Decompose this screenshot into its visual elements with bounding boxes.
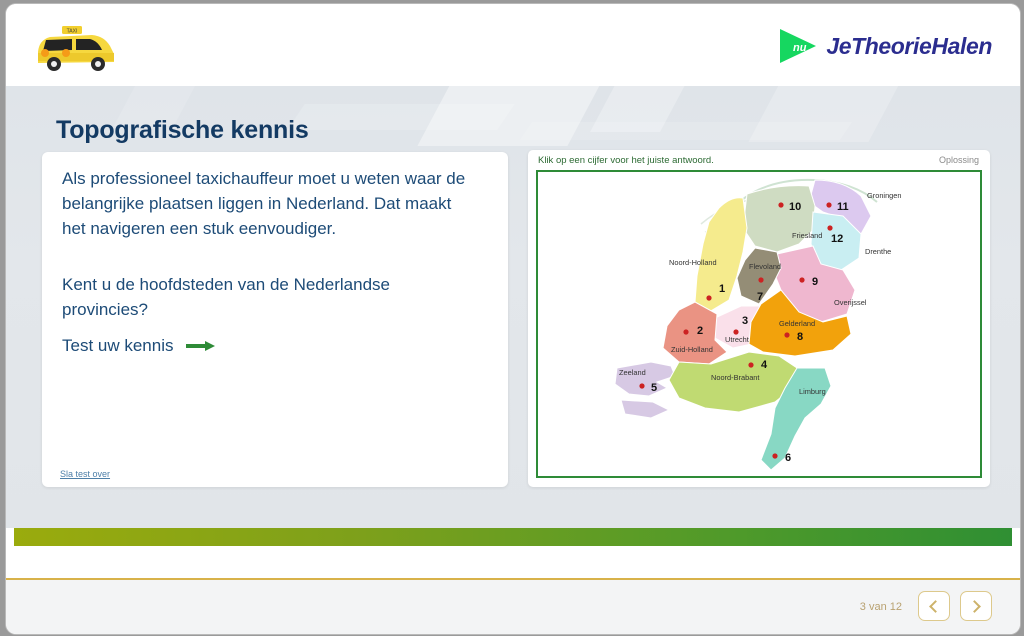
previous-page-button[interactable] <box>918 591 950 621</box>
taxi-car-icon: TAXI <box>28 20 124 76</box>
marker-number-1: 1 <box>719 283 725 295</box>
label-noord-holland: Noord-Holland <box>669 258 717 267</box>
label-friesland: Friesland <box>792 231 822 240</box>
marker-number-10: 10 <box>789 201 801 213</box>
marker-number-9: 9 <box>812 276 818 288</box>
marker-dot-6[interactable] <box>772 453 777 458</box>
label-overijssel: Overijssel <box>834 298 867 307</box>
marker-dot-12[interactable] <box>827 225 832 230</box>
show-solution-link[interactable]: Oplossing <box>939 155 979 165</box>
marker-dot-1[interactable] <box>706 295 711 300</box>
app-window: TAXI nu JeTheorieHalen Topografische ken… <box>0 0 1024 636</box>
label-noord-brabant: Noord-Brabant <box>711 373 759 382</box>
footer-bar: 3 van 12 <box>6 580 1020 634</box>
map-panel: Klik op een cijfer voor het juiste antwo… <box>528 150 990 487</box>
skip-test-link[interactable]: Sla test over <box>60 469 110 479</box>
next-page-button[interactable] <box>960 591 992 621</box>
page-title: Topografische kennis <box>56 116 309 145</box>
marker-number-7: 7 <box>757 291 763 303</box>
label-zuid-holland: Zuid-Holland <box>671 345 713 354</box>
label-limburg: Limburg <box>799 387 826 396</box>
logo-badge-text: nu <box>793 42 807 54</box>
marker-dot-7[interactable] <box>758 277 763 282</box>
marker-dot-8[interactable] <box>784 332 789 337</box>
chevron-right-icon <box>968 600 981 613</box>
map-instruction: Klik op een cijfer voor het juiste antwo… <box>538 155 714 166</box>
play-triangle-icon: nu <box>776 26 820 66</box>
marker-dot-3[interactable] <box>733 329 738 334</box>
marker-number-6: 6 <box>785 452 791 464</box>
progress-bar <box>14 528 1012 546</box>
intro-panel: Als professioneel taxichauffeur moet u w… <box>42 152 508 487</box>
logo-text: JeTheorieHalen <box>826 33 992 60</box>
test-cta-label: Test uw kennis <box>62 336 174 356</box>
marker-number-2: 2 <box>697 325 703 337</box>
label-flevoland: Flevoland <box>749 262 781 271</box>
netherlands-map[interactable]: Groningen Friesland Drenthe Overijssel F… <box>536 170 982 478</box>
app-header: TAXI nu JeTheorieHalen <box>6 4 1020 86</box>
marker-number-12: 12 <box>831 233 843 245</box>
map-svg[interactable]: Groningen Friesland Drenthe Overijssel F… <box>538 172 980 476</box>
label-utrecht: Utrecht <box>725 335 749 344</box>
marker-dot-11[interactable] <box>826 202 831 207</box>
marker-number-11: 11 <box>837 201 849 213</box>
bg-shape <box>287 104 515 130</box>
marker-number-4: 4 <box>761 359 768 371</box>
intro-paragraph-1: Als professioneel taxichauffeur moet u w… <box>62 166 474 241</box>
svg-text:TAXI: TAXI <box>67 29 78 35</box>
label-zeeland: Zeeland <box>619 368 646 377</box>
marker-dot-2[interactable] <box>683 329 688 334</box>
bg-shape <box>520 122 852 140</box>
marker-dot-9[interactable] <box>799 277 804 282</box>
page-counter: 3 van 12 <box>860 601 902 613</box>
province-friesland[interactable] <box>743 186 815 252</box>
label-drenthe: Drenthe <box>865 247 891 256</box>
progress-spacer <box>6 546 1020 578</box>
marker-dot-10[interactable] <box>778 202 783 207</box>
marker-dot-5[interactable] <box>639 383 644 388</box>
lesson-card: TAXI nu JeTheorieHalen Topografische ken… <box>6 4 1020 634</box>
brand-logo: nu JeTheorieHalen <box>776 26 992 66</box>
marker-dot-4[interactable] <box>748 362 753 367</box>
test-cta[interactable]: Test uw kennis <box>62 336 216 356</box>
marker-number-3: 3 <box>742 315 748 327</box>
label-groningen: Groningen <box>867 191 902 200</box>
marker-number-8: 8 <box>797 331 803 343</box>
arrow-right-icon <box>186 340 216 352</box>
marker-number-5: 5 <box>651 382 657 394</box>
intro-paragraph-2: Kent u de hoofdsteden van de Nederlandse… <box>62 272 474 322</box>
chevron-left-icon <box>929 600 942 613</box>
label-gelderland: Gelderland <box>779 319 815 328</box>
